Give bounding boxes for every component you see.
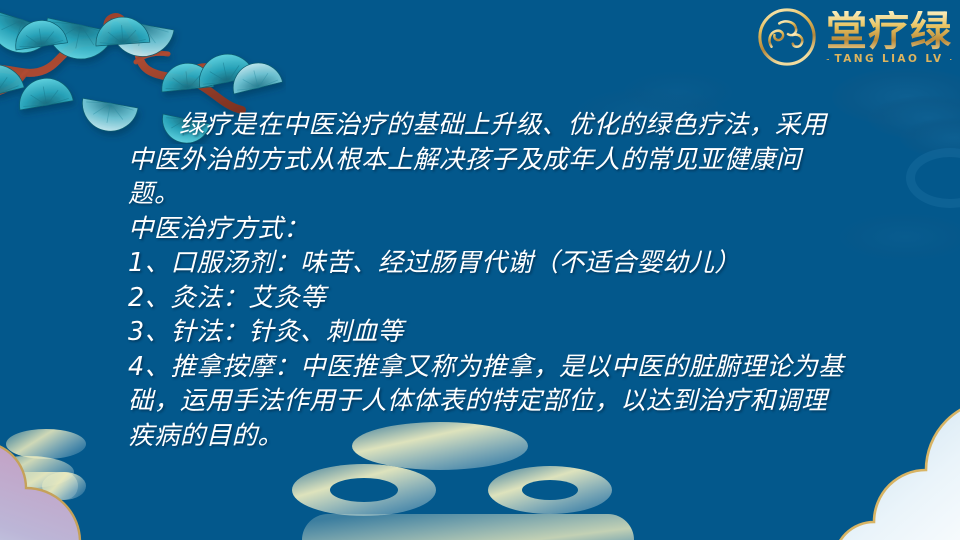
cloud-wisp-icon [624,72,732,112]
brand-logo: 堂疗绿 TANG LIAO LV [756,6,952,68]
cloud-wisp-icon [900,118,960,158]
slide-canvas: 堂疗绿 TANG LIAO LV 绿疗是在中医治疗的基础上升级、优化的绿色疗法，… [0,0,960,540]
logo-name-en: TANG LIAO LV [835,53,944,65]
logo-rule-right [950,59,953,60]
cloud-wisp-icon [868,96,960,140]
paragraph-method-4: 4、推拿按摩：中医推拿又称为推拿，是以中医的脏腑理论为基础，运用手法作用于人体体… [128,350,852,454]
paragraph-method-3: 3、针法：针灸、刺血等 [128,315,852,350]
logo-subtitle-row: TANG LIAO LV [826,53,952,65]
cloud-wisp-icon [906,148,960,208]
logo-roundel-icon [756,6,818,68]
logo-name-cn: 堂疗绿 [826,11,952,53]
logo-text-block: 堂疗绿 TANG LIAO LV [826,11,952,66]
paragraph-intro: 绿疗是在中医治疗的基础上升级、优化的绿色疗法，采用中医外治的方式从根本上解决孩子… [128,108,852,212]
paragraph-method-2: 2、灸法：艾灸等 [128,281,852,316]
cloud-wisp-icon [840,214,960,260]
paragraph-methods-heading: 中医治疗方式： [128,212,852,247]
body-copy: 绿疗是在中医治疗的基础上升级、优化的绿色疗法，采用中医外治的方式从根本上解决孩子… [128,108,852,453]
paragraph-method-1: 1、口服汤剂：味苦、经过肠胃代谢（不适合婴幼儿） [128,246,852,281]
logo-rule-left [826,59,829,60]
